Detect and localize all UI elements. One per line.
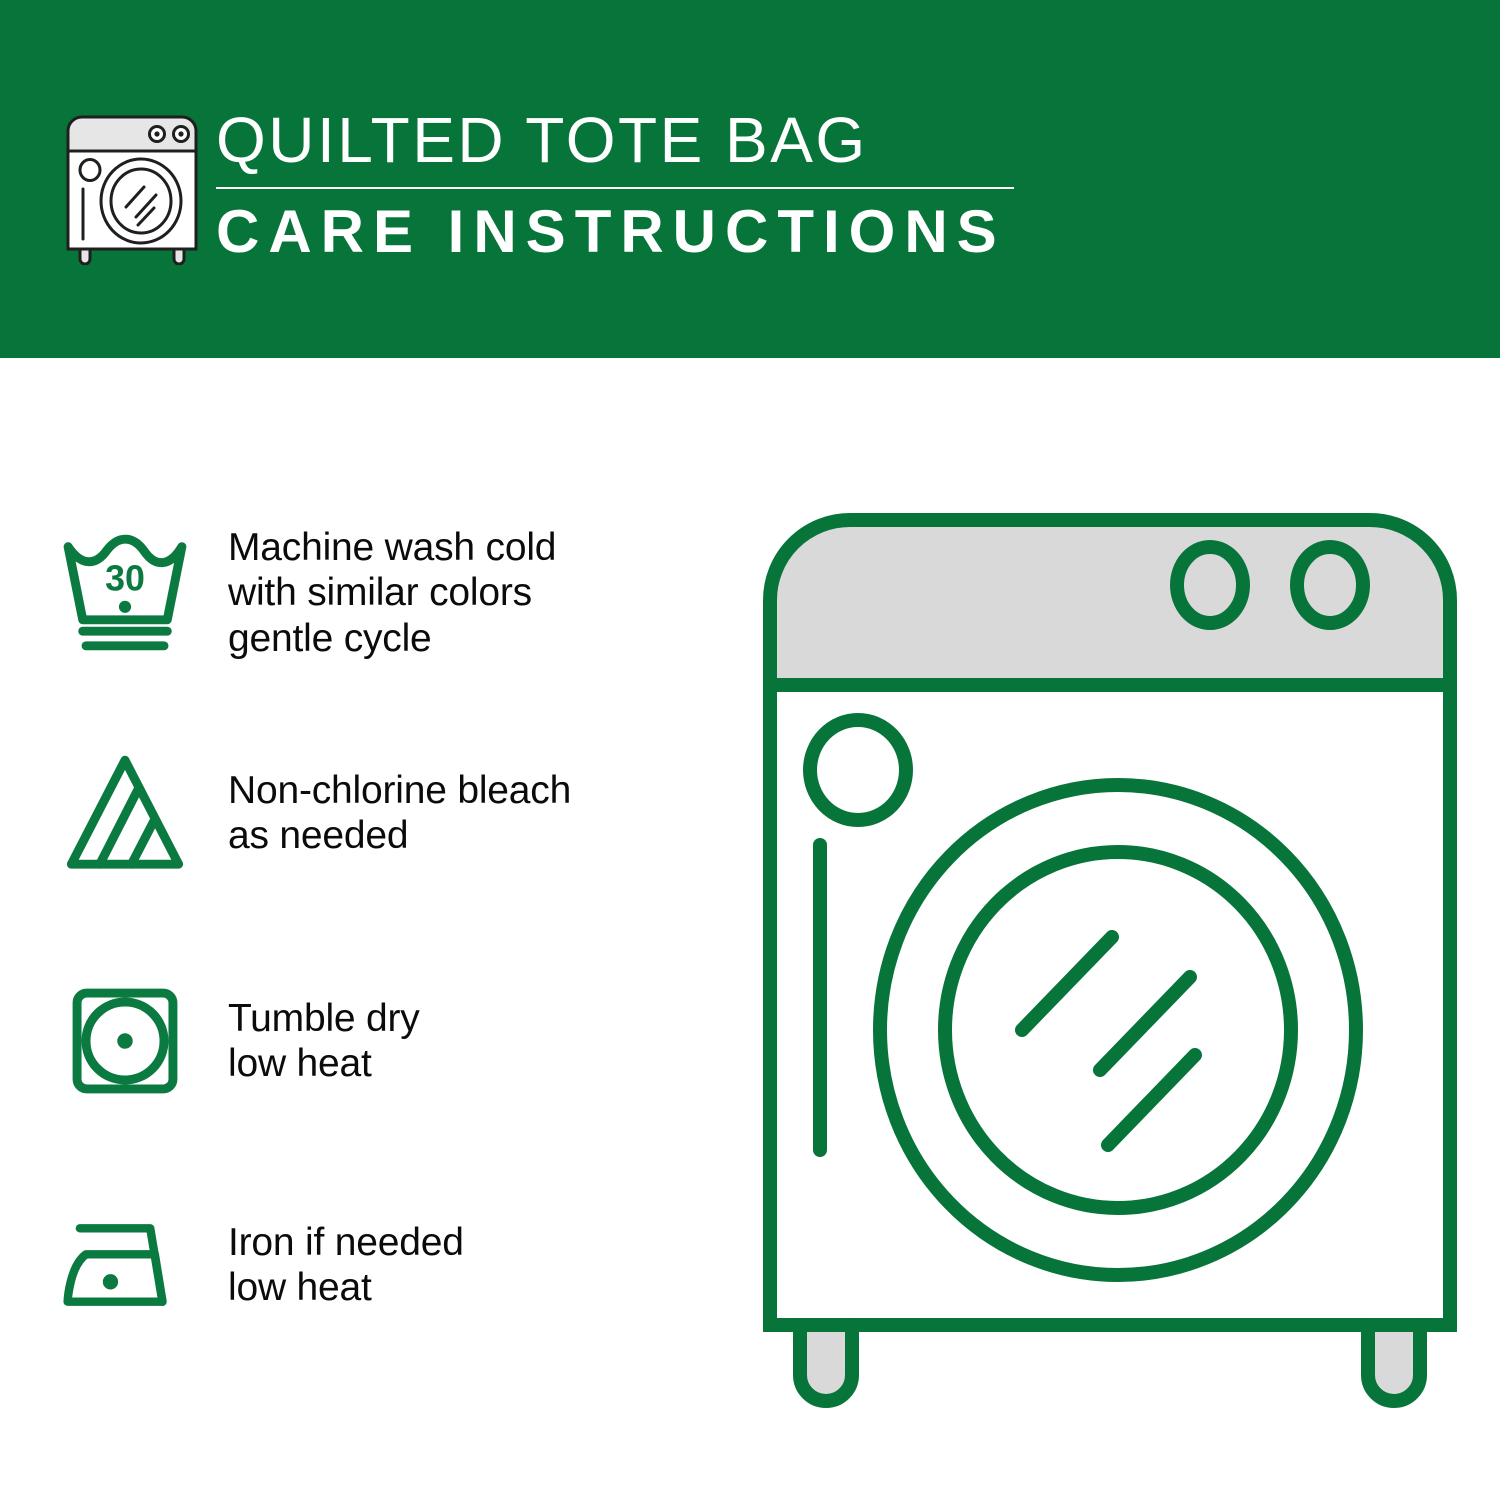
- care-row-iron: Iron if needed low heat: [0, 1180, 740, 1350]
- care-label: Machine wash cold with similar colors ge…: [190, 525, 556, 661]
- washing-machine-icon: [62, 107, 202, 265]
- tumble-dry-low-icon: [0, 956, 190, 1126]
- care-label: Iron if needed low heat: [190, 1220, 464, 1310]
- care-instruction-list: 30 Machine wash cold with similar colors…: [0, 358, 740, 1500]
- title-divider: [216, 187, 1014, 189]
- header-text-block: QUILTED TOTE BAG CARE INSTRUCTIONS: [216, 108, 1016, 262]
- care-row-tumble-dry: Tumble dry low heat: [0, 956, 740, 1126]
- care-label: Tumble dry low heat: [190, 996, 420, 1086]
- care-label: Non-chlorine bleach as needed: [190, 768, 571, 858]
- header-banner: QUILTED TOTE BAG CARE INSTRUCTIONS: [0, 0, 1500, 358]
- care-row-bleach: Non-chlorine bleach as needed: [0, 728, 740, 898]
- care-instructions-page: QUILTED TOTE BAG CARE INSTRUCTIONS 3: [0, 0, 1500, 1500]
- iron-low-heat-icon: [0, 1180, 190, 1350]
- machine-leg-left: [800, 1325, 852, 1401]
- page-title: QUILTED TOTE BAG: [216, 108, 1016, 173]
- page-subtitle: CARE INSTRUCTIONS: [216, 201, 1016, 262]
- wash-temp-label: 30: [105, 559, 145, 599]
- machine-leg-right: [1368, 1325, 1420, 1401]
- washing-machine-illustration: [740, 490, 1480, 1440]
- care-row-machine-wash: 30 Machine wash cold with similar colors…: [0, 508, 740, 678]
- machine-wash-30-icon: 30: [0, 508, 190, 678]
- non-chlorine-bleach-triangle-icon: [0, 728, 190, 898]
